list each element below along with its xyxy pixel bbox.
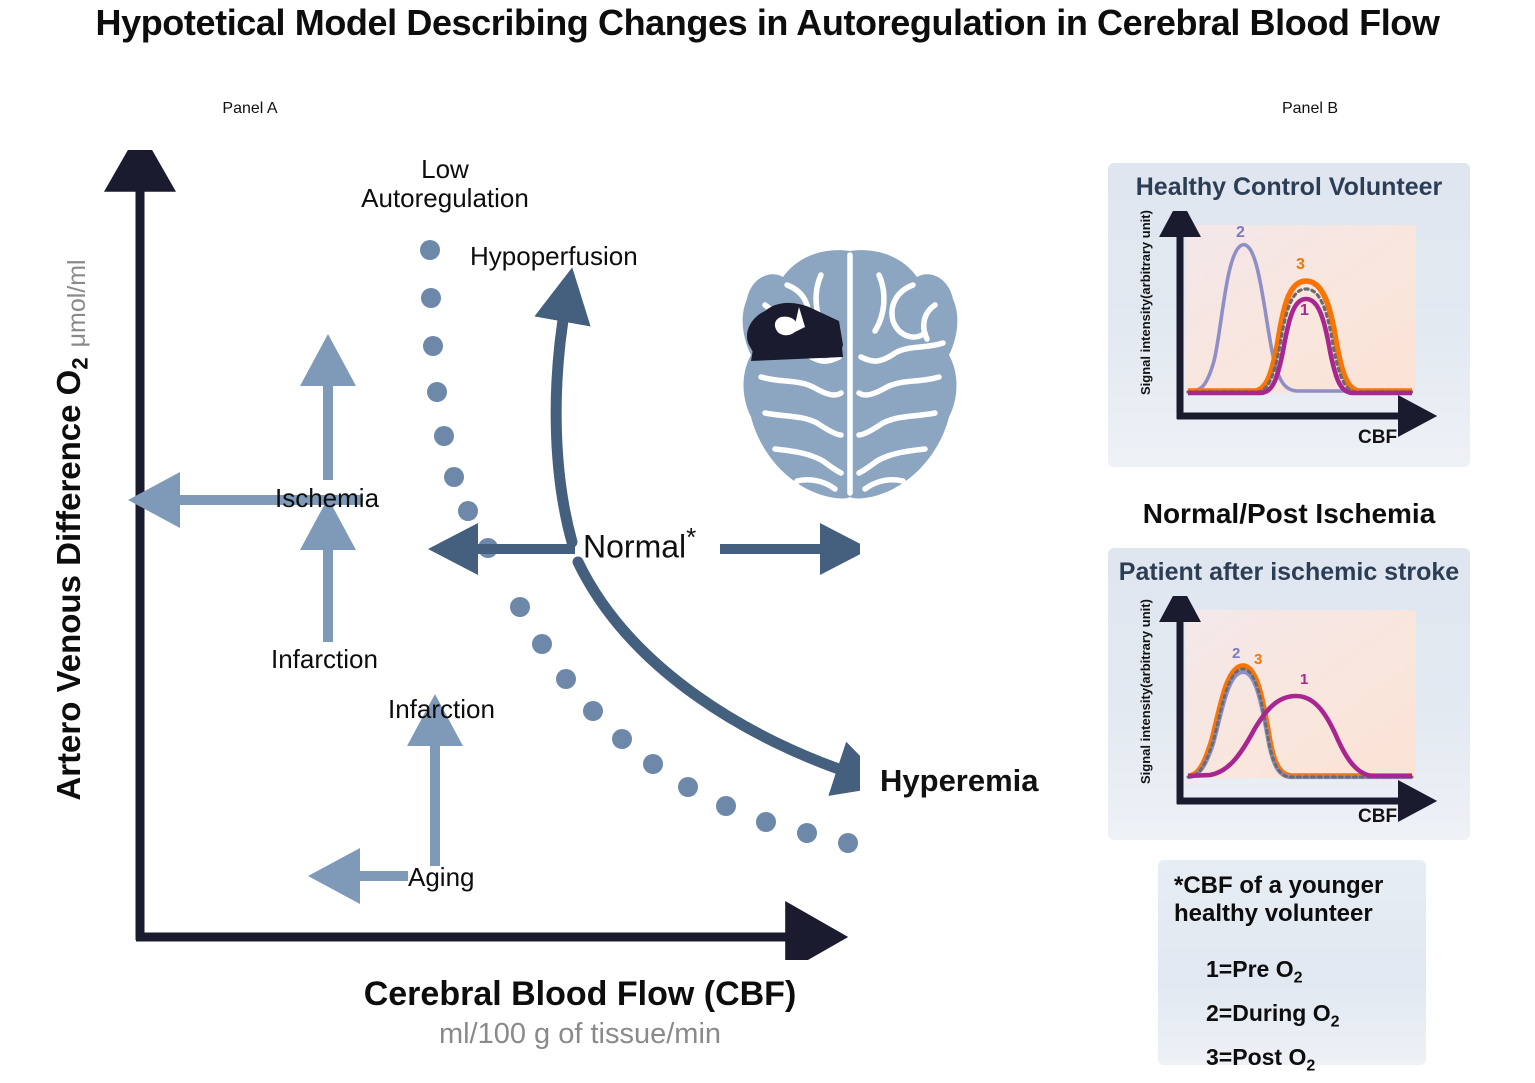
page-title: Hypotetical Model Describing Changes in … <box>0 2 1535 44</box>
hypoperfusion-label: Hypoperfusion <box>470 242 638 271</box>
healthy-control-chart-card: Healthy Control Volunteer 2 3 1 <box>1108 163 1470 467</box>
legend-note-text: *CBF of a younger healthy volunteer <box>1174 872 1414 929</box>
legend-item-1: 1=Pre O2 <box>1206 956 1303 988</box>
ischemic-stroke-x-axis-label: CBF <box>1358 806 1397 828</box>
ischemic-stroke-chart-card: Patient after ischemic stroke 2 3 1 Sign… <box>1108 548 1470 840</box>
x-axis-units: ml/100 g of tissue/min <box>180 1018 980 1051</box>
x-axis-caption: Cerebral Blood Flow (CBF) ml/100 g of ti… <box>180 975 980 1051</box>
legend-note-box: *CBF of a younger healthy volunteer 1=Pr… <box>1158 860 1426 1065</box>
infarction-label-lower: Infarction <box>388 695 495 724</box>
legend-item-2: 2=During O2 <box>1206 1000 1340 1032</box>
normal-text: Normal <box>583 529 686 565</box>
normal-label: Normal* <box>583 522 696 566</box>
ischemic-stroke-chart-title: Patient after ischemic stroke <box>1108 558 1470 587</box>
ischemic-stroke-plot: 2 3 1 <box>1144 596 1444 836</box>
x-axis-title: Cerebral Blood Flow (CBF) <box>180 975 980 1014</box>
hyperemia-label: Hyperemia <box>880 763 1039 799</box>
curve-2-label: 2 <box>1232 645 1240 662</box>
curve-1-label: 1 <box>1300 671 1308 688</box>
healthy-control-plot: 2 3 1 <box>1144 211 1444 451</box>
healthy-control-chart-title: Healthy Control Volunteer <box>1108 173 1470 202</box>
curve-2-label: 2 <box>1236 224 1245 241</box>
hypoperfusion-arrow <box>556 302 572 542</box>
normal-asterisk: * <box>686 522 696 552</box>
healthy-control-y-axis-label: Signal intensity(arbitrary unit) <box>1138 210 1153 395</box>
panel-a-header: Panel A <box>160 100 340 118</box>
curve-3-label: 3 <box>1254 651 1262 668</box>
curve-3-label: 3 <box>1296 256 1305 273</box>
low-autoregulation-label: Low Autoregulation <box>330 155 560 213</box>
ischemic-stroke-y-axis-label: Signal intensity(arbitrary unit) <box>1138 599 1153 784</box>
infarction-label-upper: Infarction <box>271 645 378 674</box>
brain-icon <box>735 245 965 500</box>
y-axis-caption: Artero Venous Difference O2 μmol/ml <box>34 220 94 840</box>
y-axis-units: μmol/ml <box>63 259 94 347</box>
aging-label: Aging <box>408 863 475 892</box>
normal-post-ischemia-heading: Normal/Post Ischemia <box>1108 498 1470 530</box>
legend-item-3: 3=Post O2 <box>1206 1044 1315 1076</box>
panel-b-header: Panel B <box>1220 100 1400 118</box>
ischemia-label: Ischemia <box>275 484 379 513</box>
healthy-control-x-axis-label: CBF <box>1358 427 1397 449</box>
curve-1-label: 1 <box>1300 302 1309 319</box>
plot-background <box>1186 610 1416 778</box>
y-axis-title: Artero Venous Difference O2 <box>50 357 94 800</box>
